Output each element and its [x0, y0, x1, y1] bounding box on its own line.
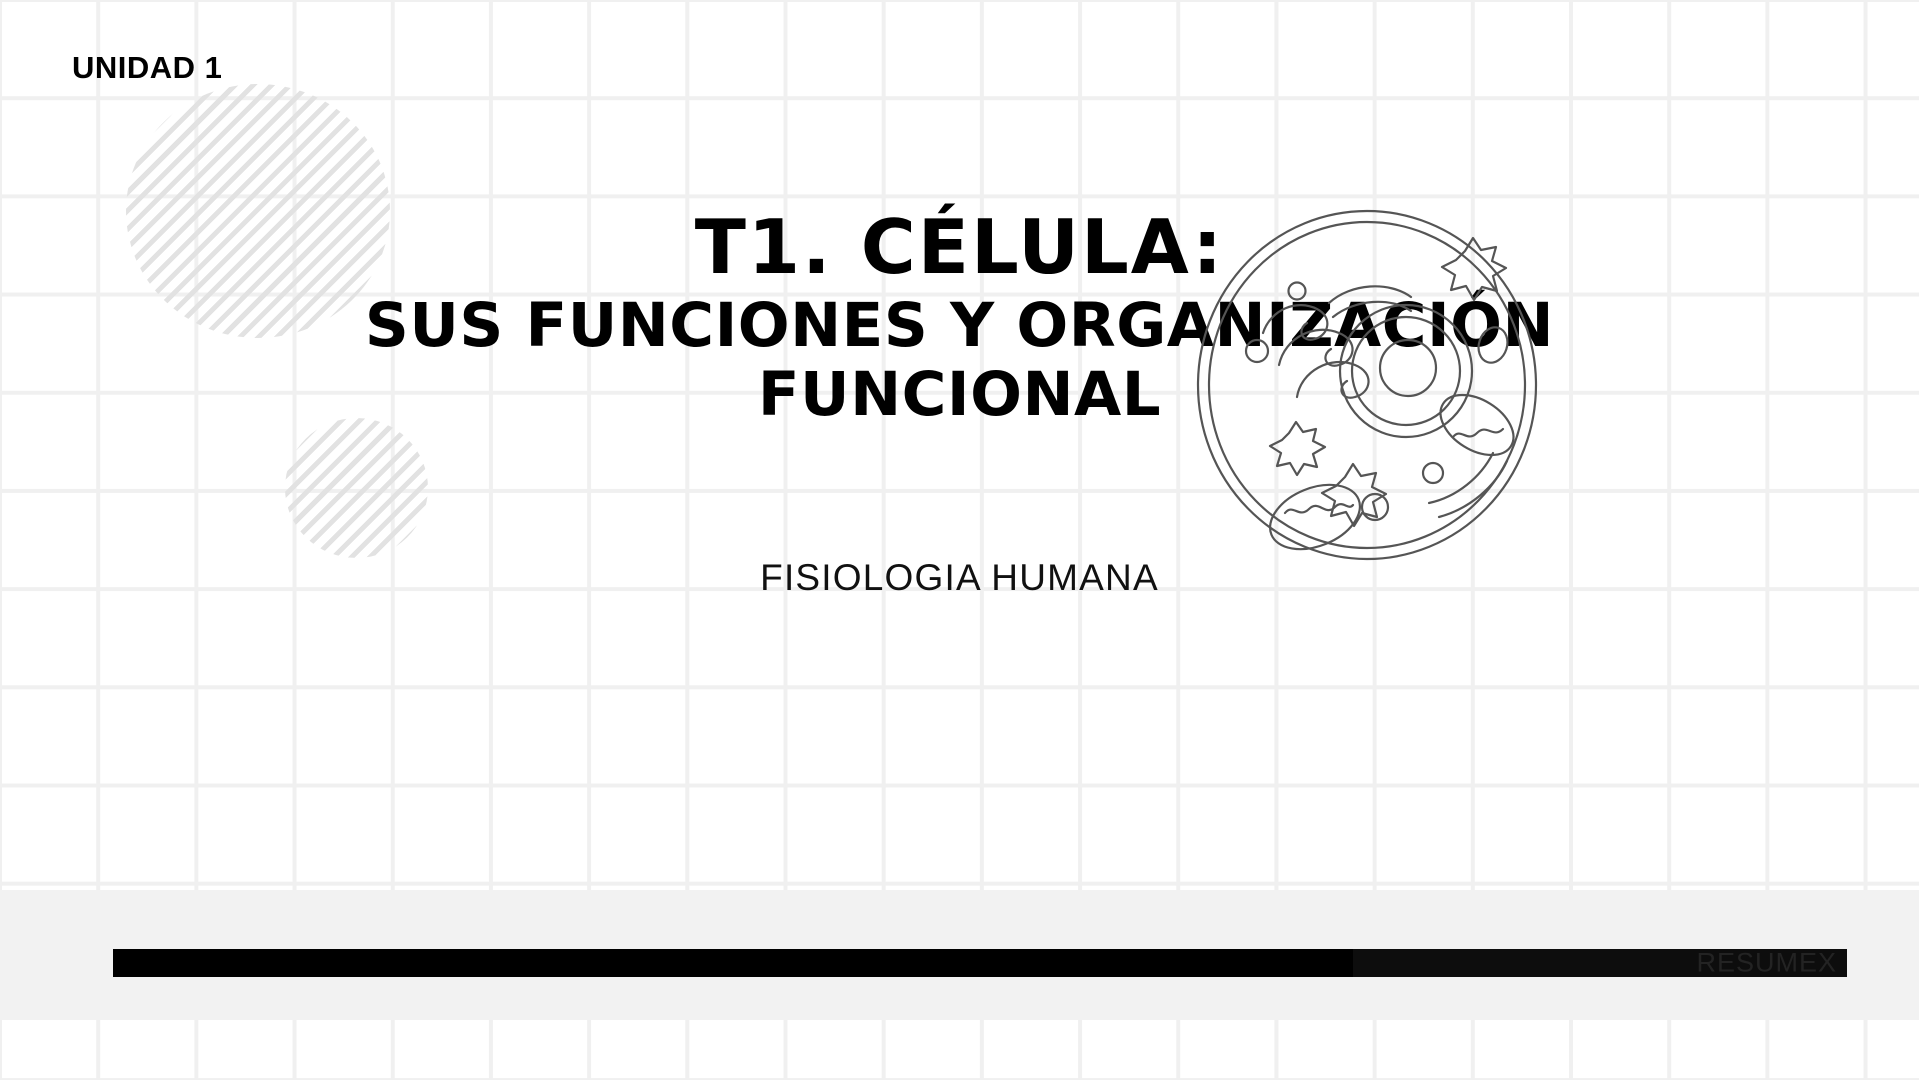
unit-label: UNIDAD 1	[72, 50, 222, 86]
subtitle: FISIOLOGIA HUMANA	[0, 557, 1919, 599]
progress-bar-track[interactable]: RESUMEX	[113, 949, 1847, 977]
hatched-circle-small-icon	[285, 418, 428, 558]
slide-canvas: UNIDAD 1 T1. CÉLULA: SUS FUNCIONES Y ORG…	[0, 0, 1919, 1080]
progress-bar-fill	[113, 949, 1353, 977]
hatched-circle-large-icon	[126, 84, 390, 338]
watermark-label: RESUMEX	[1696, 949, 1837, 977]
cell-diagram-icon	[1193, 205, 1541, 565]
